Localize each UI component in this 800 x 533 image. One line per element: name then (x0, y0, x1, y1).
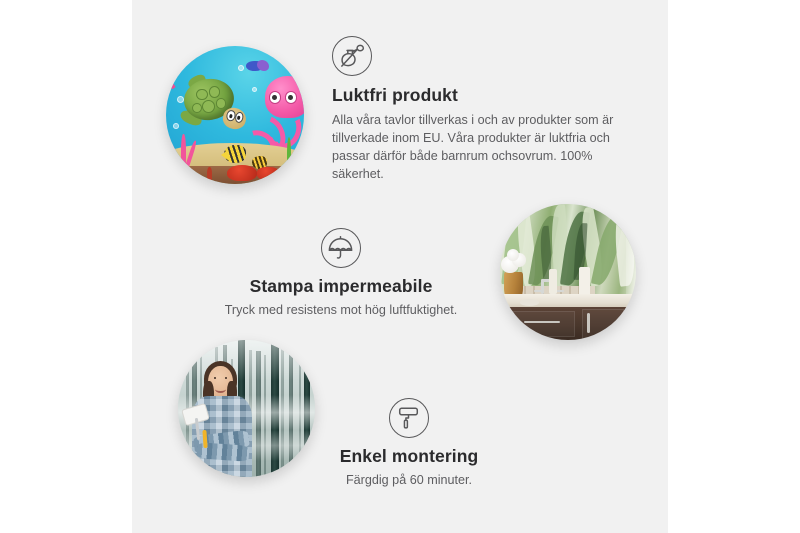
feature-title: Luktfri produkt (332, 85, 632, 106)
no-fragrance-icon (332, 36, 372, 76)
image-underwater-kids (166, 46, 304, 184)
underwater-scene (166, 46, 304, 184)
feature-body: Tryck med resistens mot hög luftfuktighe… (210, 302, 472, 320)
feature-body: Färgdig på 60 minuter. (300, 472, 518, 490)
icon-wrapper (332, 36, 632, 76)
image-painter-forest (178, 340, 315, 477)
feature-body: Alla våra tavlor tillverkas i och av pro… (332, 112, 632, 184)
image-bathroom-botanical (500, 204, 636, 340)
feature-title: Stampa impermeabile (210, 276, 472, 297)
feature-title: Enkel montering (300, 446, 518, 467)
feature-block-easy-mounting: Enkel montering Färgdig på 60 minuter. (300, 398, 518, 490)
forest-painter-scene (178, 340, 315, 477)
icon-wrapper (300, 398, 518, 438)
feature-block-odourless: Luktfri produkt Alla våra tavlor tillver… (332, 36, 632, 184)
infographic-canvas: Luktfri produkt Alla våra tavlor tillver… (0, 0, 800, 533)
bathroom-scene (500, 204, 636, 340)
icon-wrapper (210, 228, 472, 268)
umbrella-icon (321, 228, 361, 268)
feature-block-waterproof: Stampa impermeabile Tryck med resistens … (210, 228, 472, 320)
paint-roller-icon (389, 398, 429, 438)
